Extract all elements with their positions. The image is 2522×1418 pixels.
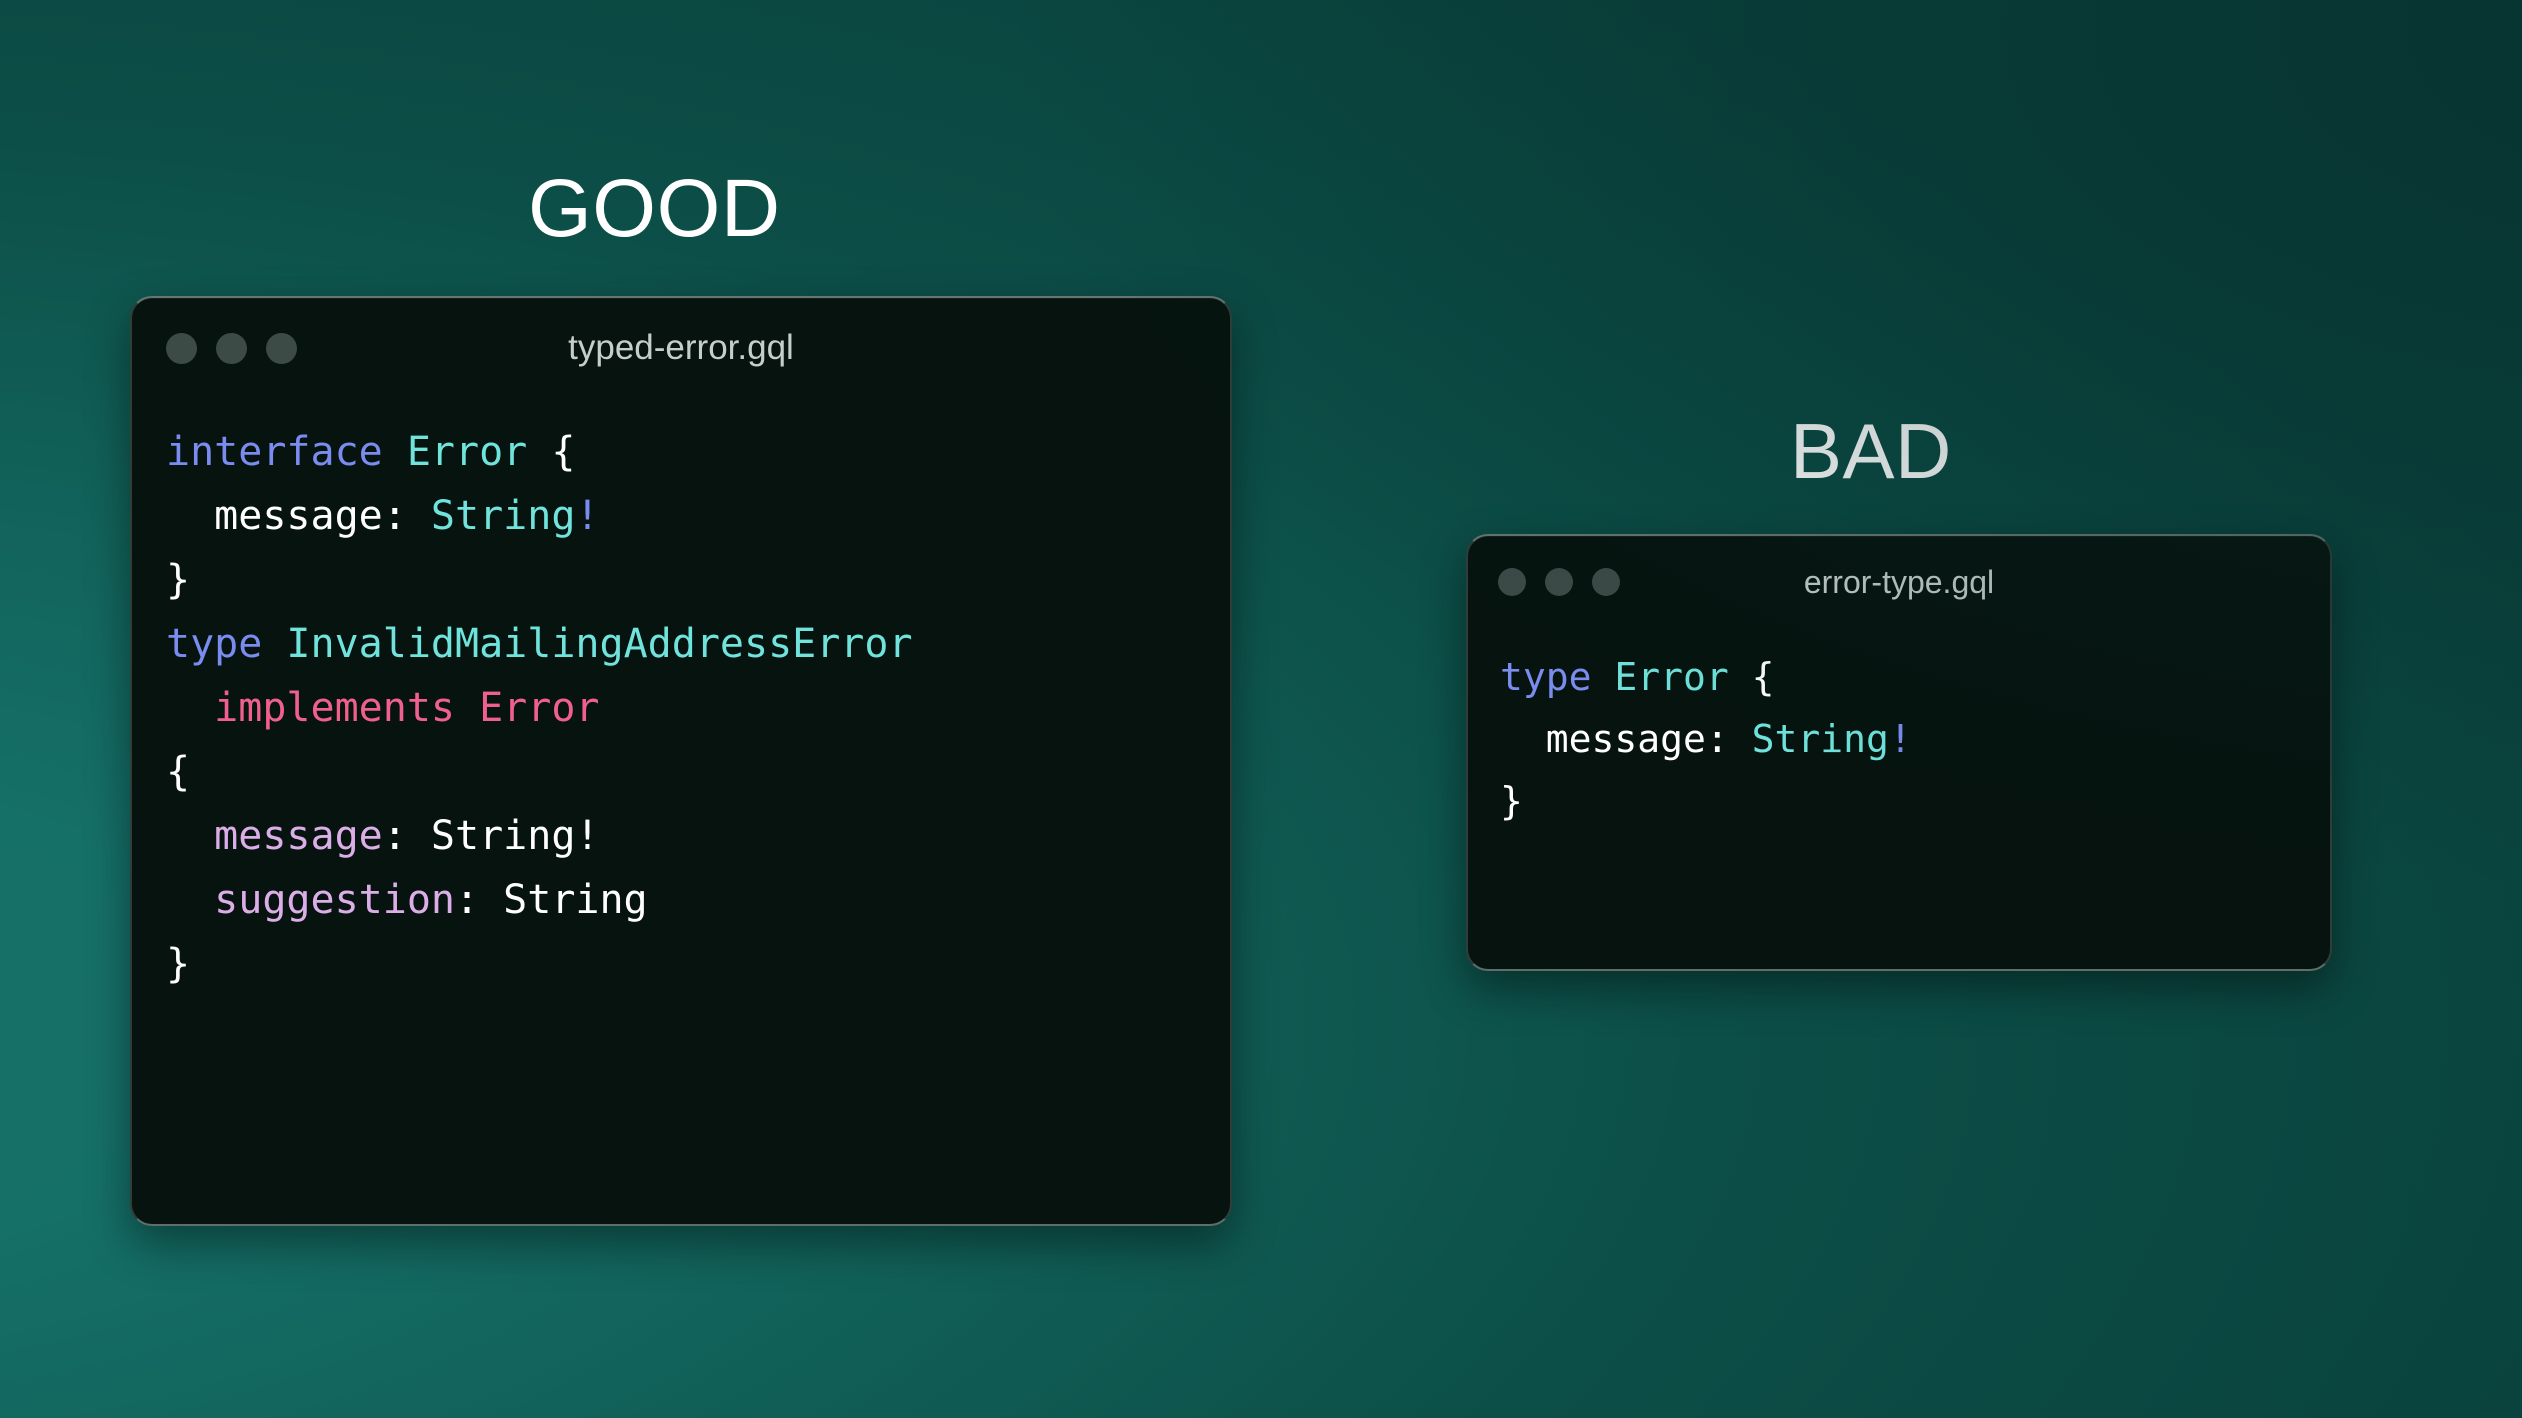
code-token: String bbox=[1752, 717, 1889, 761]
card-titlebar-good: typed-error.gql bbox=[132, 298, 1230, 398]
window-controls-good bbox=[166, 333, 297, 364]
code-card-bad: error-type.gql type Error { message: Str… bbox=[1466, 534, 2332, 971]
window-dot-green-icon[interactable] bbox=[266, 333, 297, 364]
label-good: GOOD bbox=[528, 168, 781, 250]
card-titlebar-bad: error-type.gql bbox=[1468, 536, 2330, 628]
code-token: message bbox=[166, 813, 383, 859]
code-token: message bbox=[166, 493, 383, 539]
code-line: message: String! bbox=[1500, 708, 2330, 770]
code-line: type InvalidMailingAddressError bbox=[166, 612, 1230, 676]
code-line: } bbox=[1500, 770, 2330, 832]
code-token: : String! bbox=[383, 813, 600, 859]
code-token: { bbox=[1729, 655, 1775, 699]
code-line: type Error { bbox=[1500, 646, 2330, 708]
code-token: { bbox=[166, 749, 190, 795]
window-dot-red-icon[interactable] bbox=[1498, 568, 1526, 596]
code-token: : String bbox=[455, 877, 648, 923]
slide-canvas: GOOD typed-error.gql interface Error { m… bbox=[0, 0, 2522, 1418]
code-token: ! bbox=[1889, 717, 1912, 761]
code-token: message bbox=[1500, 717, 1706, 761]
code-token: suggestion bbox=[166, 877, 455, 923]
code-token: interface bbox=[166, 429, 407, 475]
code-card-good: typed-error.gql interface Error { messag… bbox=[130, 296, 1232, 1226]
code-token: } bbox=[166, 941, 190, 987]
code-line: } bbox=[166, 932, 1230, 996]
code-line: { bbox=[166, 740, 1230, 804]
code-line: message: String! bbox=[166, 484, 1230, 548]
code-token: String bbox=[431, 493, 576, 539]
window-dot-red-icon[interactable] bbox=[166, 333, 197, 364]
window-dot-yellow-icon[interactable] bbox=[216, 333, 247, 364]
code-token: : bbox=[383, 493, 431, 539]
code-token: } bbox=[1500, 779, 1523, 823]
code-line: suggestion: String bbox=[166, 868, 1230, 932]
code-token: } bbox=[166, 557, 190, 603]
window-dot-green-icon[interactable] bbox=[1592, 568, 1620, 596]
code-token: : bbox=[1706, 717, 1752, 761]
code-line: implements Error bbox=[166, 676, 1230, 740]
window-dot-yellow-icon[interactable] bbox=[1545, 568, 1573, 596]
code-token: type bbox=[1500, 655, 1614, 699]
code-line: interface Error { bbox=[166, 420, 1230, 484]
code-token: type bbox=[166, 621, 286, 667]
label-bad: BAD bbox=[1790, 412, 1952, 490]
code-token: InvalidMailingAddressError bbox=[286, 621, 912, 667]
code-block-good: interface Error { message: String!}type … bbox=[132, 398, 1230, 996]
code-token: Error bbox=[407, 429, 527, 475]
code-block-bad: type Error { message: String!} bbox=[1468, 628, 2330, 832]
code-line: } bbox=[166, 548, 1230, 612]
code-line: message: String! bbox=[166, 804, 1230, 868]
code-token: ! bbox=[575, 493, 599, 539]
code-token: implements Error bbox=[166, 685, 599, 731]
code-token: { bbox=[527, 429, 575, 475]
window-controls-bad bbox=[1498, 568, 1620, 596]
code-token: Error bbox=[1614, 655, 1728, 699]
